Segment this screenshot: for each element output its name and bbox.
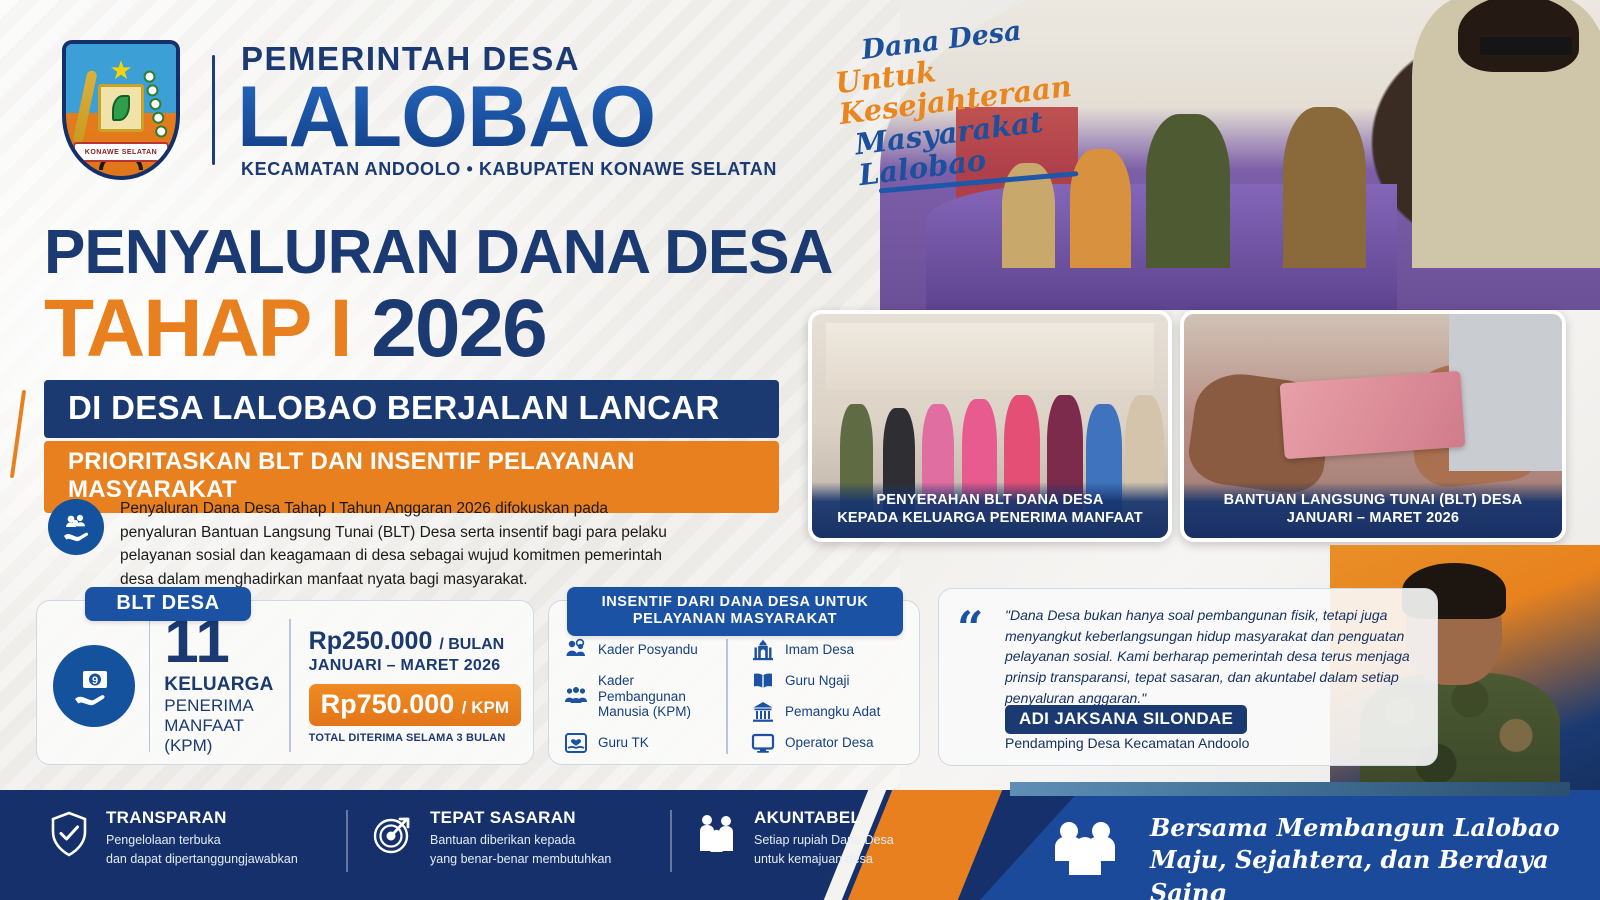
insentif-left-column: Kader Posyandu Kader Pembangunan Manusia…	[563, 637, 722, 756]
blt-total-amount: Rp750.000	[321, 689, 455, 719]
footer-item-transparan: TRANSPARAN Pengelolaan terbuka dan dapat…	[46, 808, 324, 867]
blt-amount-block: Rp250.000 / BULAN JANUARI – MARET 2026 R…	[305, 627, 521, 744]
blt-card: BLT DESA 9 11 KELUARGA PENERIMA MANFAAT …	[36, 600, 534, 765]
footer-separator	[670, 810, 672, 872]
tagline-script: Dana Desa Untuk Kesejahteraan Masyarakat…	[836, 6, 1124, 200]
insentif-item: Kader Pembangunan Manusia (KPM)	[563, 673, 722, 720]
eyeglasses-icon	[1480, 37, 1571, 55]
footer-item-text: TEPAT SASARAN Bantuan diberikan kepada y…	[430, 808, 611, 867]
footer-slogan-line-2: Maju, Sejahtera, dan Berdaya Saing	[1150, 844, 1600, 900]
blt-divider-1	[149, 619, 150, 752]
footer-item-desc-2: untuk kemajuan desa	[754, 850, 894, 868]
insentif-column-divider	[726, 639, 728, 754]
blt-period: JANUARI – MARET 2026	[309, 657, 521, 675]
photo-caption-2: BANTUAN LANGSUNG TUNAI (BLT) DESA JANUAR…	[1184, 482, 1562, 538]
poster-canvas: ★ KONAWE SELATAN PEMERINTAH DESA LALOBAO…	[0, 0, 1600, 900]
crest-ribbon: KONAWE SELATAN	[73, 142, 169, 162]
insentif-item: Pemangku Adat	[750, 699, 909, 725]
group-people-icon	[563, 683, 589, 709]
insentif-right-column: Imam Desa Guru Ngaji Pemangku Adat	[736, 637, 909, 756]
blt-total-note: TOTAL DITERIMA SELAMA 3 BULAN	[309, 732, 521, 744]
insentif-label: Pemangku Adat	[785, 704, 880, 720]
insentif-label: Kader Posyandu	[598, 642, 698, 658]
insentif-label: Guru TK	[598, 735, 649, 751]
hand-holding-people-icon	[48, 499, 104, 555]
insentif-item: Operator Desa	[750, 730, 909, 756]
headline-line-2: TAHAP I 2026	[44, 288, 864, 370]
photo-caption-2-line-1: BANTUAN LANGSUNG TUNAI (BLT) DESA	[1190, 491, 1556, 509]
blt-divider-2	[289, 619, 290, 752]
insentif-label: Imam Desa	[785, 642, 854, 658]
headline-line-1: PENYALURAN DANA DESA	[44, 222, 864, 284]
insentif-title-line-2: PELAYANAN MASYARAKAT	[567, 611, 903, 628]
header: ★ KONAWE SELATAN PEMERINTAH DESA LALOBAO…	[62, 40, 777, 180]
header-divider	[212, 55, 215, 165]
footer-bar: TRANSPARAN Pengelolaan terbuka dan dapat…	[0, 790, 1600, 900]
hand-holding-money-icon: 9	[53, 645, 135, 727]
photo-caption-1-line-2: KEPADA KELUARGA PENERIMA MANFAAT	[818, 509, 1162, 527]
quran-book-icon	[750, 668, 776, 694]
footer-item-desc-1: Setiap rupiah Dana Desa	[754, 831, 894, 849]
room-wall	[826, 323, 1154, 390]
photo-caption-1: PENYERAHAN BLT DANA DESA KEPADA KELUARGA…	[812, 482, 1168, 538]
blt-monthly-amount: Rp250.000	[309, 627, 433, 655]
footer-item-tepat-sasaran: TEPAT SASARAN Bantuan diberikan kepada y…	[370, 808, 648, 867]
insentif-card: INSENTIF DARI DANA DESA UNTUK PELAYANAN …	[548, 600, 920, 765]
footer-item-desc-2: yang benar-benar membutuhkan	[430, 850, 611, 868]
insentif-label: Kader Pembangunan Manusia (KPM)	[598, 673, 722, 720]
insentif-item: Imam Desa	[750, 637, 909, 663]
star-icon: ★	[109, 57, 132, 83]
footer-slogan: Bersama Membangun Lalobao Maju, Sejahter…	[1150, 812, 1600, 900]
blt-monthly-amount-row: Rp250.000 / BULAN	[309, 627, 521, 656]
blt-count-label-3: (KPM)	[164, 736, 275, 756]
footer-item-desc-1: Pengelolaan terbuka	[106, 831, 298, 849]
photo-caption-1-line-1: PENYERAHAN BLT DANA DESA	[818, 491, 1162, 509]
footer-separator	[346, 810, 348, 872]
blt-card-title: BLT DESA	[85, 587, 251, 621]
footer-item-text: TRANSPARAN Pengelolaan terbuka dan dapat…	[106, 808, 298, 867]
shield-check-icon	[46, 808, 92, 860]
quote-author-role: Pendamping Desa Kecamatan Andoolo	[1005, 735, 1249, 751]
svg-text:9: 9	[92, 675, 98, 687]
family-icon	[694, 808, 740, 860]
blt-total-unit: / KPM	[462, 698, 509, 717]
traditional-house-icon	[750, 699, 776, 725]
insentif-label: Operator Desa	[785, 735, 874, 751]
photo-caption-2-line-2: JANUARI – MARET 2026	[1190, 509, 1556, 527]
target-arrow-icon	[370, 808, 416, 860]
people-badge-icon	[563, 637, 589, 663]
headline-block: PENYALURAN DANA DESA TAHAP I 2026 DI DES…	[44, 222, 864, 513]
insentif-title-line-1: INSENTIF DARI DANA DESA UNTUK	[567, 594, 903, 611]
quote-card: “ "Dana Desa bukan hanya soal pembanguna…	[938, 588, 1438, 766]
banknote	[1280, 370, 1466, 459]
description-text: Penyaluran Dana Desa Tahap I Tahun Angga…	[120, 495, 668, 591]
quote-author-name: ADI JAKSANA SILONDAE	[1005, 705, 1247, 734]
blt-card-body: 9 11 KELUARGA PENERIMA MANFAAT (KPM) Rp2…	[37, 601, 533, 764]
district-label: KECAMATAN ANDOOLO • KABUPATEN KONAWE SEL…	[241, 160, 777, 178]
footer-value-items: TRANSPARAN Pengelolaan terbuka dan dapat…	[46, 804, 972, 872]
mosque-icon	[750, 637, 776, 663]
headline-year: 2026	[371, 283, 545, 374]
footer-item-akuntabel: AKUNTABEL Setiap rupiah Dana Desa untuk …	[694, 808, 972, 867]
blt-count-label-2: PENERIMA MANFAAT	[164, 696, 275, 736]
blt-count-value: 11	[164, 615, 275, 670]
insentif-card-title: INSENTIF DARI DANA DESA UNTUK PELAYANAN …	[567, 587, 903, 636]
attendee-4	[1283, 107, 1367, 268]
crest-shield: ★ KONAWE SELATAN	[62, 40, 180, 180]
cash-handover-image: BANTUAN LANGSUNG TUNAI (BLT) DESA JANUAR…	[1184, 314, 1562, 538]
footer-photo-strip	[1010, 782, 1570, 796]
quotation-mark-icon: “	[957, 605, 983, 651]
header-titles: PEMERINTAH DESA LALOBAO KECAMATAN ANDOOL…	[241, 42, 777, 179]
blt-count-label-1: KELUARGA	[164, 674, 275, 696]
leaf-icon	[112, 95, 130, 121]
headline-phase-number: I	[330, 283, 351, 374]
blt-handover-photo: PENYERAHAN BLT DANA DESA KEPADA KELUARGA…	[808, 310, 1172, 542]
blt-total-amount-badge: Rp750.000 / KPM	[309, 684, 521, 726]
blt-handover-image: PENYERAHAN BLT DANA DESA KEPADA KELUARGA…	[812, 314, 1168, 538]
insentif-item: Guru TK	[563, 730, 722, 756]
blt-monthly-unit: / BULAN	[439, 636, 504, 653]
attendee-5-hair	[1458, 0, 1580, 72]
footer-slogan-line-1: Bersama Membangun Lalobao	[1150, 812, 1600, 844]
attendee-3	[1146, 114, 1230, 268]
footer-item-desc-1: Bantuan diberikan kepada	[430, 831, 611, 849]
cash-handover-photo: BANTUAN LANGSUNG TUNAI (BLT) DESA JANUAR…	[1180, 310, 1566, 542]
open-book-child-icon	[563, 730, 589, 756]
headline-tahap: TAHAP	[44, 283, 309, 374]
insentif-label: Guru Ngaji	[785, 673, 850, 689]
blt-count-block: 11 KELUARGA PENERIMA MANFAAT (KPM)	[164, 615, 275, 756]
village-crest-logo: ★ KONAWE SELATAN	[62, 40, 180, 180]
footer-item-title: TRANSPARAN	[106, 808, 298, 828]
group-people-icon	[1050, 816, 1122, 878]
striped-sleeve	[1449, 314, 1562, 471]
crest-emblem-box	[98, 84, 144, 132]
quote-text: "Dana Desa bukan hanya soal pembangunan …	[1005, 605, 1423, 709]
footer-item-text: AKUNTABEL Setiap rupiah Dana Desa untuk …	[754, 808, 894, 867]
description-block: Penyaluran Dana Desa Tahap I Tahun Angga…	[48, 495, 668, 591]
footer-item-title: AKUNTABEL	[754, 808, 894, 828]
monitor-icon	[750, 730, 776, 756]
headline-band-blue: DI DESA LALOBAO BERJALAN LANCAR	[44, 380, 779, 438]
footer-item-title: TEPAT SASARAN	[430, 808, 611, 828]
insentif-item: Kader Posyandu	[563, 637, 722, 663]
footer-item-desc-2: dan dapat dipertanggungjawabkan	[106, 850, 298, 868]
village-name: LALOBAO	[237, 77, 777, 159]
insentif-item: Guru Ngaji	[750, 668, 909, 694]
